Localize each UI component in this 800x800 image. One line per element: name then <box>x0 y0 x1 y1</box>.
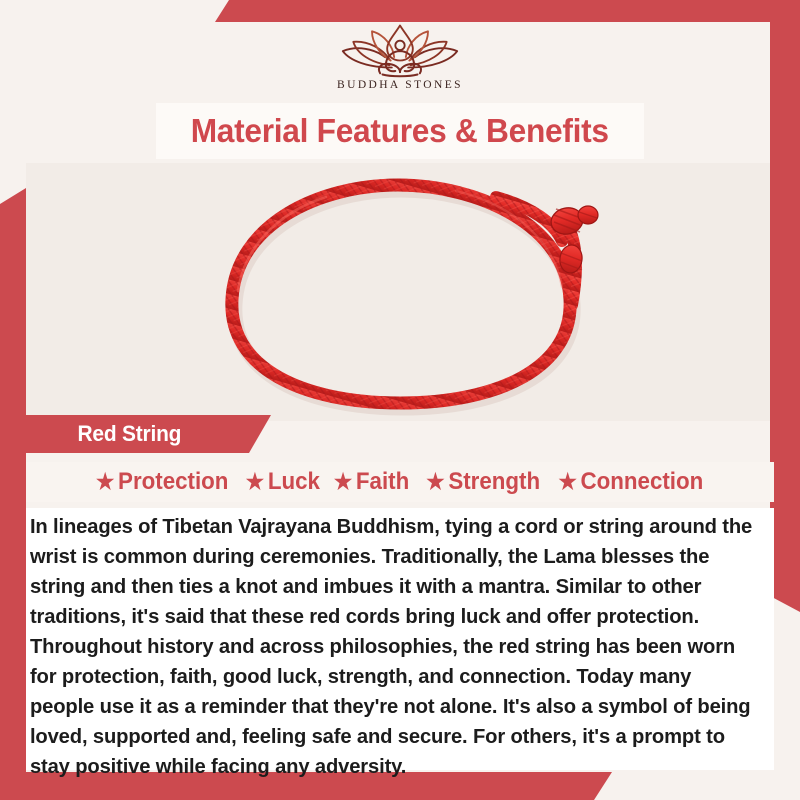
star-icon: ★ <box>96 471 114 493</box>
brand-header: BUDDHA STONES <box>0 22 800 100</box>
star-icon: ★ <box>426 471 444 493</box>
benefit-label: Strength <box>448 468 540 496</box>
benefit-label: Faith <box>356 468 409 496</box>
page-title: Material Features & Benefits <box>191 112 609 150</box>
star-icon: ★ <box>246 471 264 493</box>
description-text: In lineages of Tibetan Vajrayana Buddhis… <box>26 512 763 782</box>
decor-left-red-strip <box>0 188 26 800</box>
decor-top-red-band <box>215 0 800 22</box>
title-banner: Material Features & Benefits <box>156 103 644 159</box>
benefit-label: Connection <box>580 468 703 496</box>
benefit-item-luck: ★ Luck <box>246 468 320 496</box>
star-icon: ★ <box>334 471 352 493</box>
product-photo <box>26 163 770 421</box>
star-icon: ★ <box>558 471 576 493</box>
benefits-row: ★ Protection ★ Luck ★ Faith ★ Strength ★… <box>26 462 774 502</box>
product-name: Red String <box>30 421 181 447</box>
benefit-label: Luck <box>268 468 320 496</box>
benefit-item-protection: ★ Protection <box>96 468 228 496</box>
brand-name: BUDDHA STONES <box>337 79 463 91</box>
lotus-meditation-figure-icon <box>334 22 466 78</box>
benefit-label: Protection <box>118 468 228 496</box>
benefit-item-faith: ★ Faith <box>334 468 409 496</box>
benefit-item-connection: ★ Connection <box>558 468 703 496</box>
benefit-item-strength: ★ Strength <box>426 468 540 496</box>
description-block: In lineages of Tibetan Vajrayana Buddhis… <box>26 508 774 770</box>
product-name-ribbon: Red String <box>26 415 271 453</box>
infographic-page: BUDDHA STONES Material Features & Benefi… <box>0 0 800 800</box>
